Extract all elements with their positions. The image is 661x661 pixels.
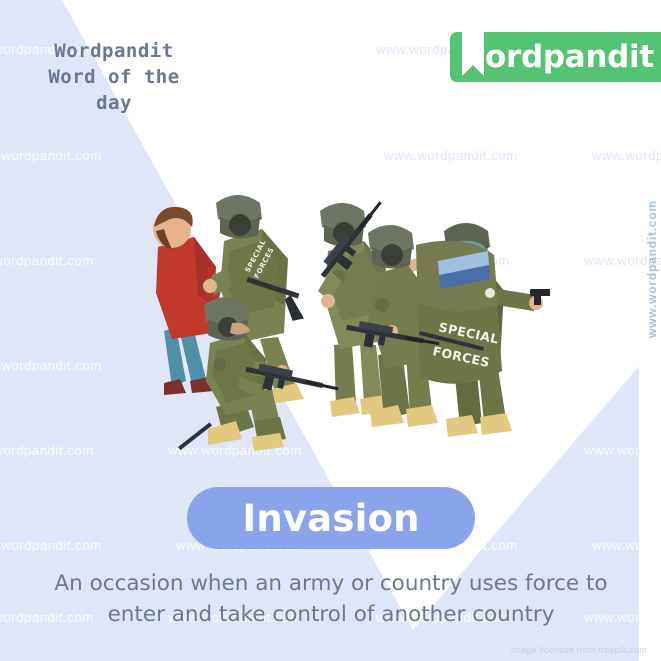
prop-rifle-ground — [178, 422, 212, 450]
word-definition: An occasion when an army or country uses… — [26, 568, 636, 630]
wordpandit-logo[interactable]: ordpandit — [450, 32, 661, 82]
word-pill: Invasion — [187, 487, 475, 549]
page-title-line-2: Word of the — [14, 64, 214, 90]
vocabulary-word: Invasion — [242, 497, 419, 540]
page-title-line-1: Wordpandit — [14, 38, 214, 64]
image-credit: Image licensed from freepik.com — [511, 645, 647, 655]
word-of-the-day-card: www.wordpandit.comwww.wordpandit.comwww.… — [0, 0, 661, 661]
vertical-site-url: www.wordpandit.com — [645, 200, 659, 338]
logo-text: ordpandit — [485, 42, 654, 73]
page-title-line-3: day — [14, 90, 214, 116]
page-title: Wordpandit Word of the day — [14, 38, 214, 116]
special-forces-arrest-illustration: SPECIAL FORCES — [120, 155, 550, 475]
bookmark-icon — [460, 32, 486, 78]
